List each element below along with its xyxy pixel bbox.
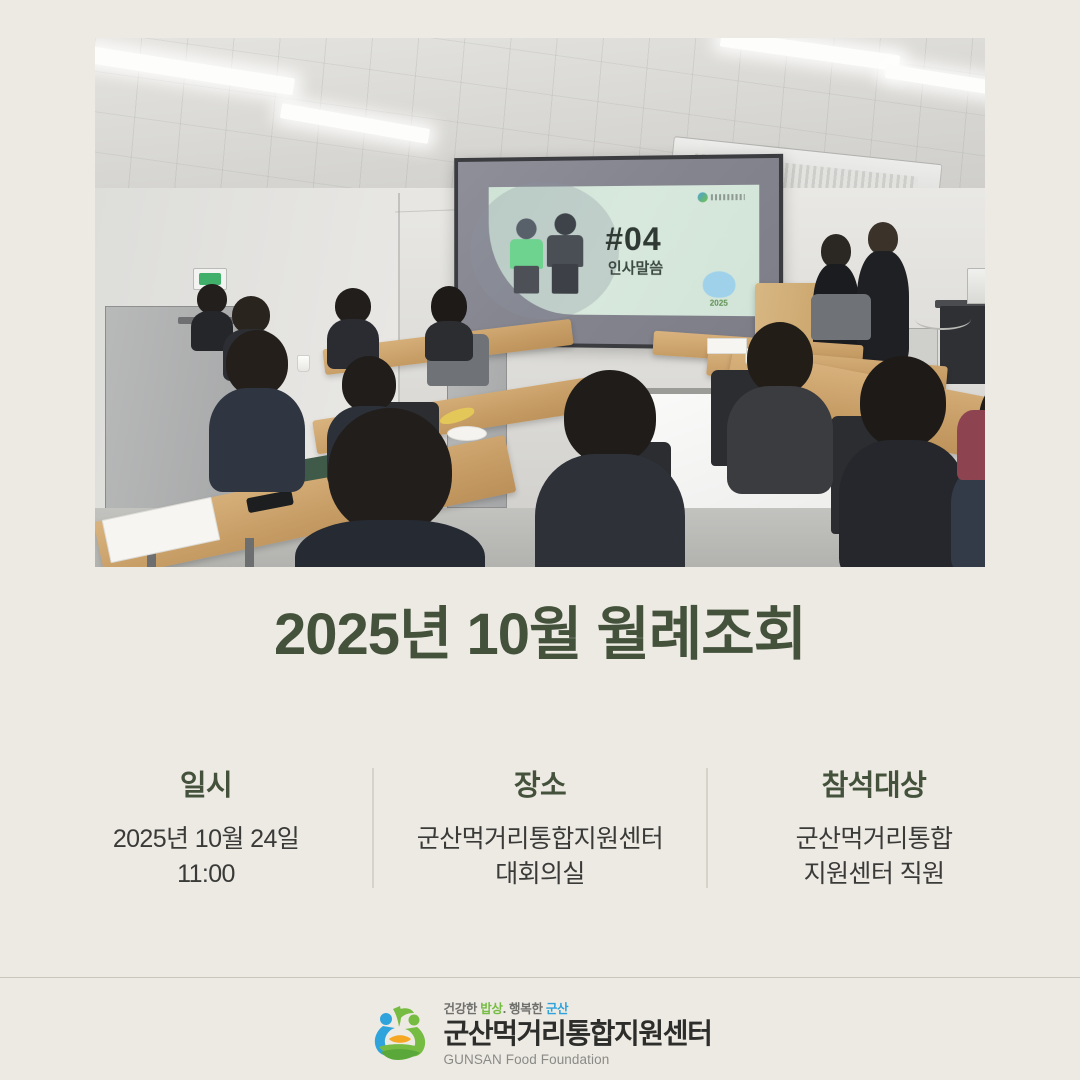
info-column-attendees: 참석대상 군산먹거리통합 지원센터 직원 xyxy=(708,762,1040,891)
info-heading-datetime: 일시 xyxy=(46,762,366,804)
seated-person-foreground xyxy=(839,356,967,567)
seated-person-foreground xyxy=(535,370,685,567)
standing-person xyxy=(857,222,909,364)
foundation-logo-text: 건강한 밥상. 행복한 군산 군산먹거리통합지원센터 GUNSAN Food F… xyxy=(444,998,712,1066)
info-value-venue: 군산먹거리통합지원센터 xyxy=(380,822,700,857)
footer-divider xyxy=(0,977,1080,978)
foundation-logo-icon xyxy=(369,1003,431,1063)
info-columns: 일시 2025년 10월 24일 11:00 장소 군산먹거리통합지원센터 대회… xyxy=(40,762,1040,891)
poster-canvas: #04 인사말씀 2025 xyxy=(0,0,1080,1080)
logo-name-ko: 군산먹거리통합지원센터 xyxy=(444,1019,712,1049)
slide-mascot: 2025 xyxy=(698,271,739,308)
logo-name-en: GUNSAN Food Foundation xyxy=(444,1052,712,1067)
slide-figure-left xyxy=(507,218,546,292)
logo-tagline-green: 밥상 xyxy=(480,1002,502,1016)
logo-tagline-blue: 군산 xyxy=(546,1002,568,1016)
info-value-time: 11:00 xyxy=(46,857,366,892)
seated-person xyxy=(209,330,305,490)
cables xyxy=(915,308,971,330)
slide-number: #04 xyxy=(605,220,661,257)
slide-figure-right xyxy=(544,213,587,293)
logo-tagline: 건강한 밥상. 행복한 군산 xyxy=(444,998,712,1017)
info-value-attendees-2: 지원센터 직원 xyxy=(714,857,1034,892)
seated-person xyxy=(425,286,473,360)
event-photo: #04 인사말씀 2025 xyxy=(95,38,985,567)
info-column-datetime: 일시 2025년 10월 24일 11:00 xyxy=(40,762,372,891)
page-title: 2025년 10월 월례조회 xyxy=(0,600,1080,670)
presentation-slide: #04 인사말씀 2025 xyxy=(489,184,759,315)
table-leg xyxy=(245,538,254,567)
seated-person xyxy=(957,410,985,480)
slide-mascot-year: 2025 xyxy=(698,298,739,307)
slide-logo-icon xyxy=(698,191,745,204)
info-heading-location: 장소 xyxy=(380,762,700,804)
projection-screen: #04 인사말씀 2025 xyxy=(454,154,783,350)
projection-surface: #04 인사말씀 2025 xyxy=(458,158,779,346)
slide-subtitle: 인사말씀 xyxy=(608,257,663,278)
info-value-attendees-1: 군산먹거리통합 xyxy=(714,822,1034,857)
info-value-room: 대회의실 xyxy=(380,857,700,892)
seated-person xyxy=(727,322,833,492)
seated-person-foreground xyxy=(295,408,485,567)
logo-tagline-middle: . 행복한 xyxy=(503,1002,546,1016)
info-column-location: 장소 군산먹거리통합지원센터 대회의실 xyxy=(374,762,706,891)
info-value-date: 2025년 10월 24일 xyxy=(46,822,366,857)
logo-tagline-prefix: 건강한 xyxy=(444,1002,481,1016)
footer-branding: 건강한 밥상. 행복한 군산 군산먹거리통합지원센터 GUNSAN Food F… xyxy=(0,985,1080,1080)
photo-scene: #04 인사말씀 2025 xyxy=(95,38,985,567)
laptop xyxy=(967,268,985,304)
info-heading-attendees: 참석대상 xyxy=(714,762,1034,804)
